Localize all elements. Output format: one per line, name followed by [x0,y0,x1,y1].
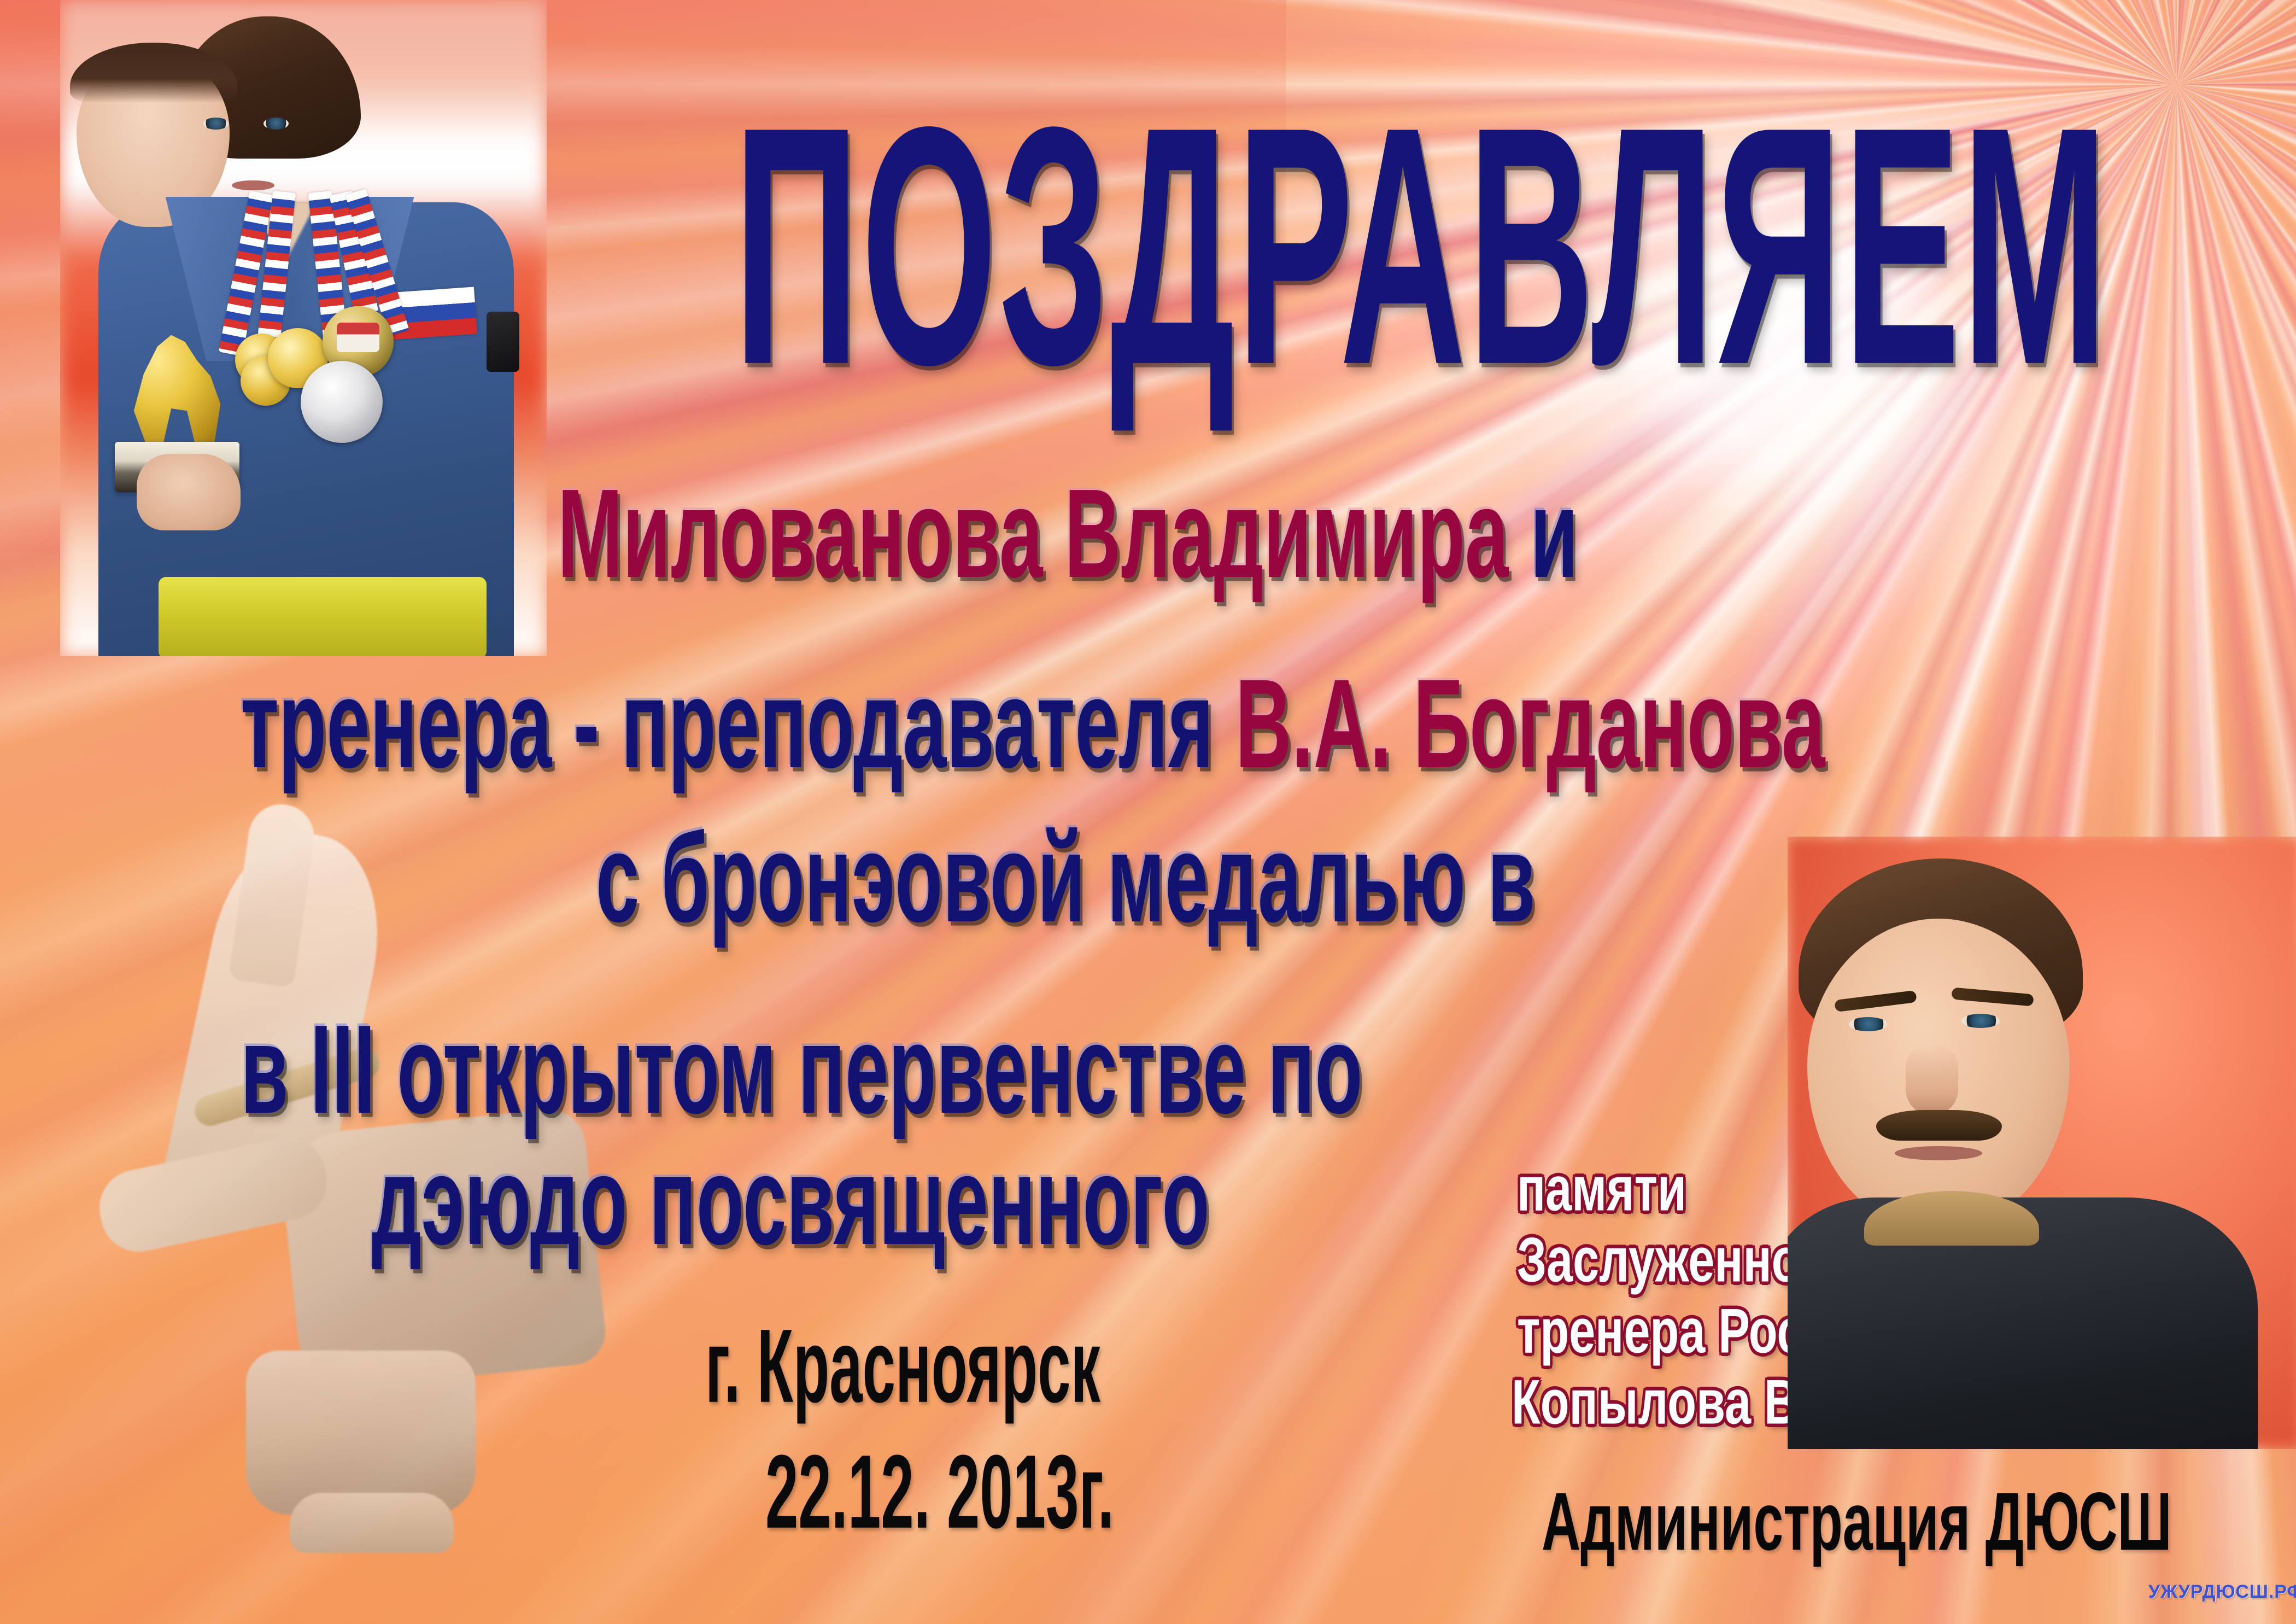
coach-photo [1788,837,2296,1449]
event-city: г. Красноярск [705,1314,1100,1418]
congratulation-line-3: с бронэовой медалью в [596,815,1536,941]
trophy-figurine [128,328,226,443]
congratulation-line-1: Милованова Владимира и [558,470,1578,597]
judoka-feet [290,1493,454,1553]
congratulation-line-4: в III открытом первенстве по [241,1006,1363,1132]
eye-left [1849,1017,1887,1031]
coach-role-label: тренера - преподавателя [241,653,1235,795]
eye-left [203,118,229,130]
sleeve-patch [487,312,519,372]
moustache [1876,1110,2002,1141]
athlete-name: Милованова Владимира [558,463,1530,604]
coach-name: В.А. Богданова [1235,653,1825,795]
conjunction: и [1530,463,1578,604]
mouth [1895,1146,1982,1160]
judoka-legs [246,1351,476,1515]
congratulation-line-2: тренера - преподавателя В.А. Богданова [241,661,1825,787]
mouth [232,180,274,190]
signature-line: Администрация ДЮСШ [1542,1481,2172,1563]
page-title: ПОЗДРАВЛЯЕМ [734,77,1705,416]
congratulation-line-5: дэюдо посвященного [372,1137,1210,1264]
silver-medal [301,361,383,443]
athlete-photo [60,0,547,656]
yellow-belt [159,577,487,656]
eye-right [1961,1014,2000,1028]
event-date: 22.12. 2013г. [765,1440,1114,1544]
hand-holding-trophy [137,454,241,530]
congratulations-poster: ПОЗДРАВЛЯЕМ Милованова Владимира и трене… [0,0,2296,1624]
memorial-line-1: памяти [1517,1158,1686,1220]
nose [1906,1044,1958,1115]
eye-right [263,118,289,130]
site-watermark: УЖУРДЮСШ.РФ [2148,1581,2296,1603]
